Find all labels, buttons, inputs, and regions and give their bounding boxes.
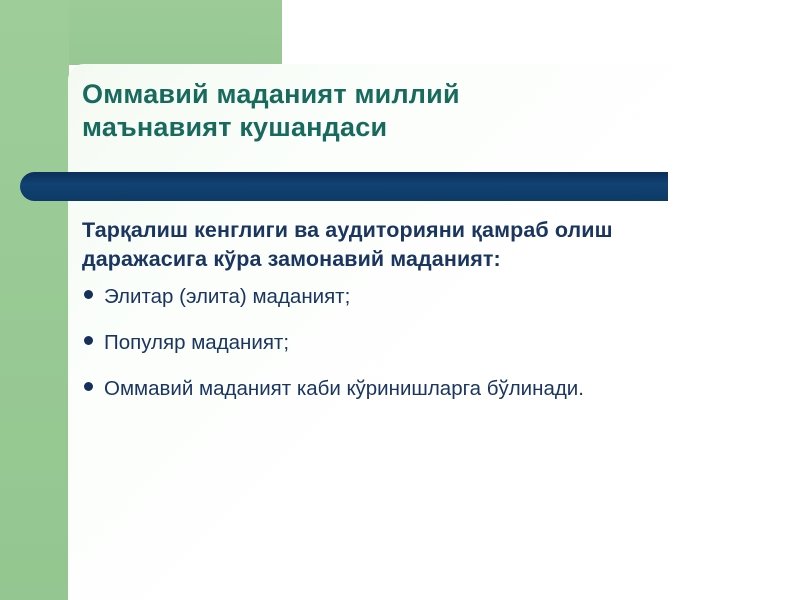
bullet-dot-icon	[84, 290, 93, 299]
green-side-strip	[0, 0, 69, 600]
list-item: Популяр маданият;	[82, 328, 742, 357]
bullet-dot-icon	[84, 336, 93, 345]
bullet-text: Оммавий маданият каби кўринишларга бўлин…	[104, 377, 584, 400]
lead-paragraph: Тарқалиш кенглиги ва аудиторияни қамраб …	[82, 216, 742, 274]
slide-title-line-2: маънавият кушандаси	[82, 111, 682, 144]
slide-title: Оммавий маданият миллий маънавият кушанд…	[82, 78, 682, 144]
bullet-text: Элитар (элита) маданият;	[104, 285, 350, 308]
bullet-text: Популяр маданият;	[104, 331, 289, 354]
list-item: Оммавий маданият каби кўринишларга бўлин…	[82, 374, 742, 403]
bullet-list: Элитар (элита) маданият; Популяр мадания…	[82, 282, 742, 403]
list-item: Элитар (элита) маданият;	[82, 282, 742, 311]
slide-body: Тарқалиш кенглиги ва аудиторияни қамраб …	[82, 216, 742, 403]
presentation-slide: Оммавий маданият миллий маънавият кушанд…	[0, 0, 800, 600]
slide-title-line-1: Оммавий маданият миллий	[82, 78, 682, 111]
title-divider-bar	[20, 172, 668, 201]
bullet-dot-icon	[84, 382, 93, 391]
